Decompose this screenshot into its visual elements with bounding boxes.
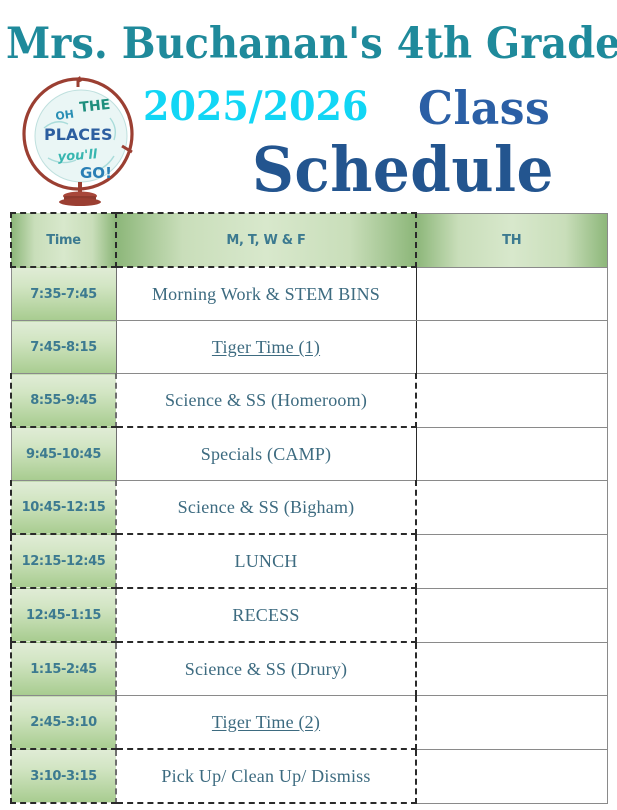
column-header-th: TH bbox=[416, 213, 607, 267]
cell-time: 7:35-7:45 bbox=[11, 267, 116, 321]
cell-activity: Science & SS (Homeroom) bbox=[116, 374, 416, 428]
cell-activity: Morning Work & STEM BINS bbox=[116, 267, 416, 321]
table-row: 10:45-12:15Science & SS (Bigham) bbox=[11, 481, 607, 535]
cell-activity: LUNCH bbox=[116, 534, 416, 588]
page-title-teacher: Mrs. Buchanan's 4th Grade bbox=[6, 18, 617, 69]
globe-icon: OH THE PLACES you'll GO! bbox=[18, 72, 144, 206]
cell-th bbox=[416, 481, 607, 535]
cell-time: 9:45-10:45 bbox=[11, 427, 116, 481]
class-schedule-table: Time M, T, W & F TH 7:35-7:45Morning Wor… bbox=[10, 212, 608, 804]
table-header-row: Time M, T, W & F TH bbox=[11, 213, 607, 267]
table-row: 7:35-7:45Morning Work & STEM BINS bbox=[11, 267, 607, 321]
page-title-schedule-word: Schedule bbox=[252, 134, 554, 206]
svg-text:you'll: you'll bbox=[57, 147, 98, 165]
table-row: 9:45-10:45Specials (CAMP) bbox=[11, 427, 607, 481]
cell-activity: Science & SS (Drury) bbox=[116, 642, 416, 696]
svg-text:GO!: GO! bbox=[80, 164, 112, 182]
cell-time: 2:45-3:10 bbox=[11, 696, 116, 750]
table-row: 8:55-9:45Science & SS (Homeroom) bbox=[11, 374, 607, 428]
table-row: 7:45-8:15Tiger Time (1) bbox=[11, 321, 607, 374]
svg-text:THE: THE bbox=[79, 97, 111, 116]
cell-th bbox=[416, 642, 607, 696]
cell-th bbox=[416, 696, 607, 750]
activity-label: Tiger Time (1) bbox=[212, 337, 320, 357]
cell-activity: RECESS bbox=[116, 588, 416, 642]
column-header-time: Time bbox=[11, 213, 116, 267]
cell-time: 7:45-8:15 bbox=[11, 321, 116, 374]
table-body: 7:35-7:45Morning Work & STEM BINS7:45-8:… bbox=[11, 267, 607, 803]
activity-label: Tiger Time (2) bbox=[212, 712, 320, 732]
svg-text:OH: OH bbox=[55, 108, 75, 123]
svg-text:PLACES: PLACES bbox=[44, 125, 113, 144]
cell-th bbox=[416, 749, 607, 803]
cell-time: 3:10-3:15 bbox=[11, 749, 116, 803]
page-title-school-year: 2025/2026 bbox=[143, 82, 368, 129]
cell-activity: Tiger Time (1) bbox=[116, 321, 416, 374]
cell-time: 12:45-1:15 bbox=[11, 588, 116, 642]
cell-th bbox=[416, 588, 607, 642]
table-row: 1:15-2:45Science & SS (Drury) bbox=[11, 642, 607, 696]
column-header-mtwf: M, T, W & F bbox=[116, 213, 416, 267]
cell-time: 1:15-2:45 bbox=[11, 642, 116, 696]
cell-th bbox=[416, 534, 607, 588]
page-title-class-word: Class bbox=[418, 82, 550, 136]
table-header: Time M, T, W & F TH bbox=[11, 213, 607, 267]
cell-activity: Specials (CAMP) bbox=[116, 427, 416, 481]
cell-th bbox=[416, 321, 607, 374]
title-block: Mrs. Buchanan's 4th Grade 2025/2026 Clas… bbox=[0, 0, 617, 212]
table-row: 12:15-12:45LUNCH bbox=[11, 534, 607, 588]
cell-th bbox=[416, 427, 607, 481]
table-row: 12:45-1:15RECESS bbox=[11, 588, 607, 642]
cell-time: 10:45-12:15 bbox=[11, 481, 116, 535]
table-row: 3:10-3:15Pick Up/ Clean Up/ Dismiss bbox=[11, 749, 607, 803]
cell-time: 8:55-9:45 bbox=[11, 374, 116, 428]
cell-activity: Science & SS (Bigham) bbox=[116, 481, 416, 535]
cell-th bbox=[416, 267, 607, 321]
table-row: 2:45-3:10Tiger Time (2) bbox=[11, 696, 607, 750]
cell-activity: Pick Up/ Clean Up/ Dismiss bbox=[116, 749, 416, 803]
cell-time: 12:15-12:45 bbox=[11, 534, 116, 588]
cell-activity: Tiger Time (2) bbox=[116, 696, 416, 750]
cell-th bbox=[416, 374, 607, 428]
